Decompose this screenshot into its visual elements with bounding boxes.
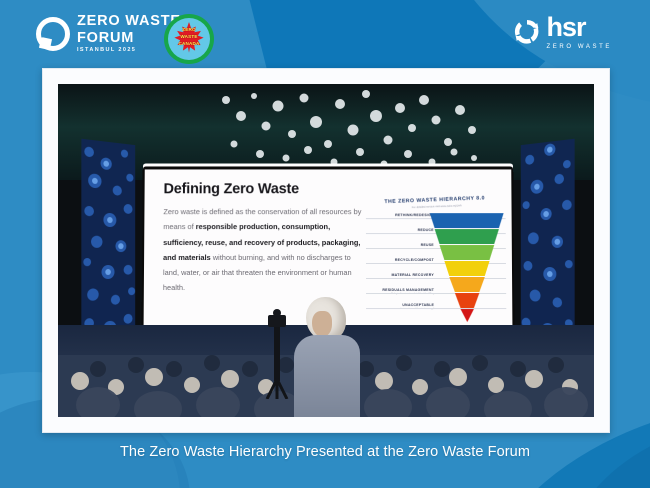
hierarchy-pyramid-segment (430, 261, 504, 276)
speaker-body (294, 335, 360, 417)
hierarchy-pyramid-segment (430, 229, 504, 244)
zwc-inner-disc: ZERO WASTE CANADA (168, 18, 210, 60)
slide-title: Defining Zero Waste (163, 181, 298, 197)
hsr-tagline: ZERO WASTE (547, 44, 612, 50)
hierarchy-pyramid-segment (430, 309, 504, 322)
hierarchy-level-label: MATERIAL RECOVERY (392, 273, 435, 277)
hierarchy-level-label: RETHINK/REDESIGN (395, 213, 434, 217)
photo-card: Defining Zero Waste Zero waste is define… (42, 68, 610, 433)
camera-tripod-icon (264, 309, 290, 399)
hierarchy-level-label: RESIDUALS MANAGEMENT (382, 288, 434, 292)
zwc-line1: ZERO (169, 27, 209, 34)
header: ZERO WASTE FORUM ISTANBUL 2025 ZERO WAST… (0, 0, 650, 70)
zero-waste-forum-logo: ZERO WASTE FORUM ISTANBUL 2025 (36, 14, 181, 54)
hierarchy-pyramid-segment (430, 245, 504, 260)
speaker-person (294, 297, 360, 417)
recycle-arrows-icon (512, 17, 542, 47)
hsr-logo: hsr ZERO WASTE (512, 14, 612, 50)
zero-waste-forum-mark-icon (36, 17, 70, 51)
hierarchy-pyramid-segment (430, 277, 504, 292)
zero-waste-canada-logo: ZERO WASTE CANADA (164, 14, 214, 64)
caption: The Zero Waste Hierarchy Presented at th… (0, 444, 650, 460)
hierarchy-pyramid-segment (430, 293, 504, 308)
poster-page: ZERO WASTE FORUM ISTANBUL 2025 ZERO WAST… (0, 0, 650, 488)
zwc-line3: CANADA (169, 41, 209, 48)
bubble-chandelier-icon (208, 86, 488, 178)
hsr-name: hsr (547, 14, 612, 41)
hierarchy-pyramid-segment (430, 213, 504, 228)
zwc-wordmark: ZERO WASTE CANADA (169, 27, 209, 47)
hierarchy-level-label: RECYCLE/COMPOST (395, 258, 434, 262)
slide-body: Zero waste is defined as the conservatio… (163, 204, 363, 295)
hsr-wordmark: hsr ZERO WASTE (547, 14, 612, 50)
conference-stage-photo: Defining Zero Waste Zero waste is define… (58, 84, 594, 417)
speaker-face (312, 311, 332, 337)
hierarchy-pyramid (430, 213, 505, 323)
